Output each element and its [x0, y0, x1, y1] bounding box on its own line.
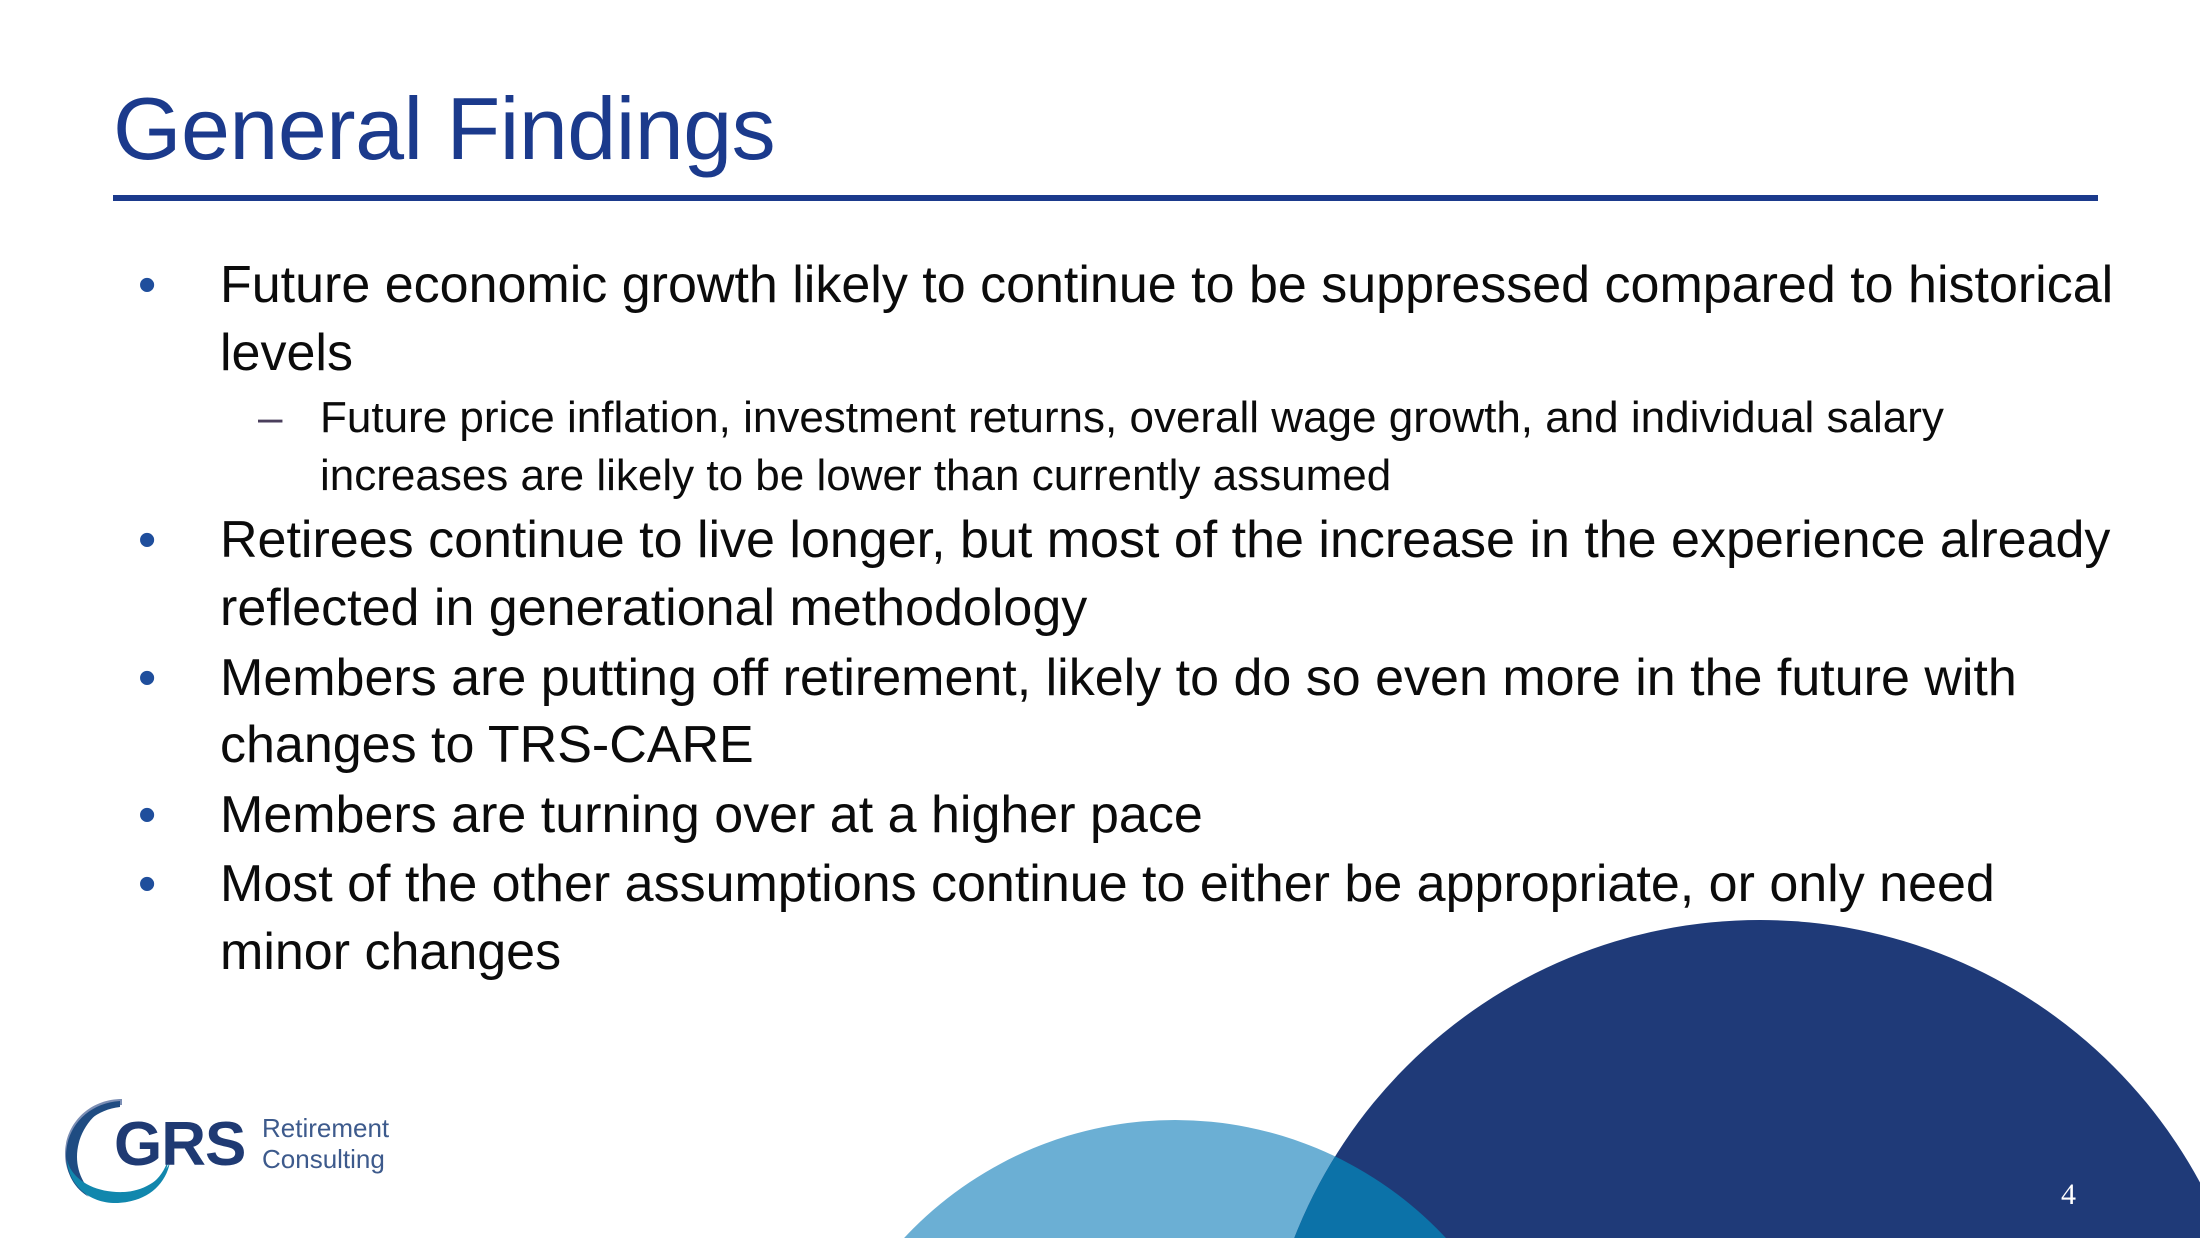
list-item: • Members are putting off retirement, li…: [113, 645, 2133, 780]
list-item-text: Retirees continue to live longer, but mo…: [220, 507, 2133, 642]
slide-canvas: General Findings • Future economic growt…: [0, 0, 2200, 1238]
grs-tagline-line2: Consulting: [262, 1144, 389, 1175]
page-number: 4: [2061, 1180, 2076, 1210]
grs-wordmark: GRS: [114, 1109, 245, 1180]
list-item: • Members are turning over at a higher p…: [113, 782, 2133, 850]
list-item: • Retirees continue to live longer, but …: [113, 507, 2133, 642]
list-item: • Most of the other assumptions continue…: [113, 851, 2133, 986]
list-item-text: Members are turning over at a higher pac…: [220, 782, 2133, 850]
page-title: General Findings: [113, 85, 2098, 173]
swoosh-navy-body: [68, 1102, 118, 1200]
list-item-text: Most of the other assumptions continue t…: [220, 851, 2133, 986]
grs-logo: GRS Retirement Consulting: [62, 1095, 352, 1205]
bullet-list: • Future economic growth likely to conti…: [113, 252, 2133, 989]
list-item-text: Members are putting off retirement, like…: [220, 645, 2133, 780]
bullet-marker-icon: •: [138, 252, 220, 320]
list-item: • Future economic growth likely to conti…: [113, 252, 2133, 387]
decor-circle-light: [805, 1120, 1545, 1238]
bullet-marker-icon: •: [138, 782, 220, 850]
title-block: General Findings: [113, 85, 2098, 201]
list-item-text: Future economic growth likely to continu…: [220, 252, 2133, 387]
grs-tagline-line1: Retirement: [262, 1113, 389, 1144]
title-underline-rule: [113, 195, 2098, 201]
grs-tagline: Retirement Consulting: [262, 1113, 389, 1174]
list-item-text: Future price inflation, investment retur…: [320, 389, 2133, 505]
dash-marker-icon: –: [258, 389, 320, 447]
bullet-marker-icon: •: [138, 507, 220, 575]
list-item: – Future price inflation, investment ret…: [113, 389, 2133, 505]
bullet-marker-icon: •: [138, 851, 220, 919]
bullet-marker-icon: •: [138, 645, 220, 713]
